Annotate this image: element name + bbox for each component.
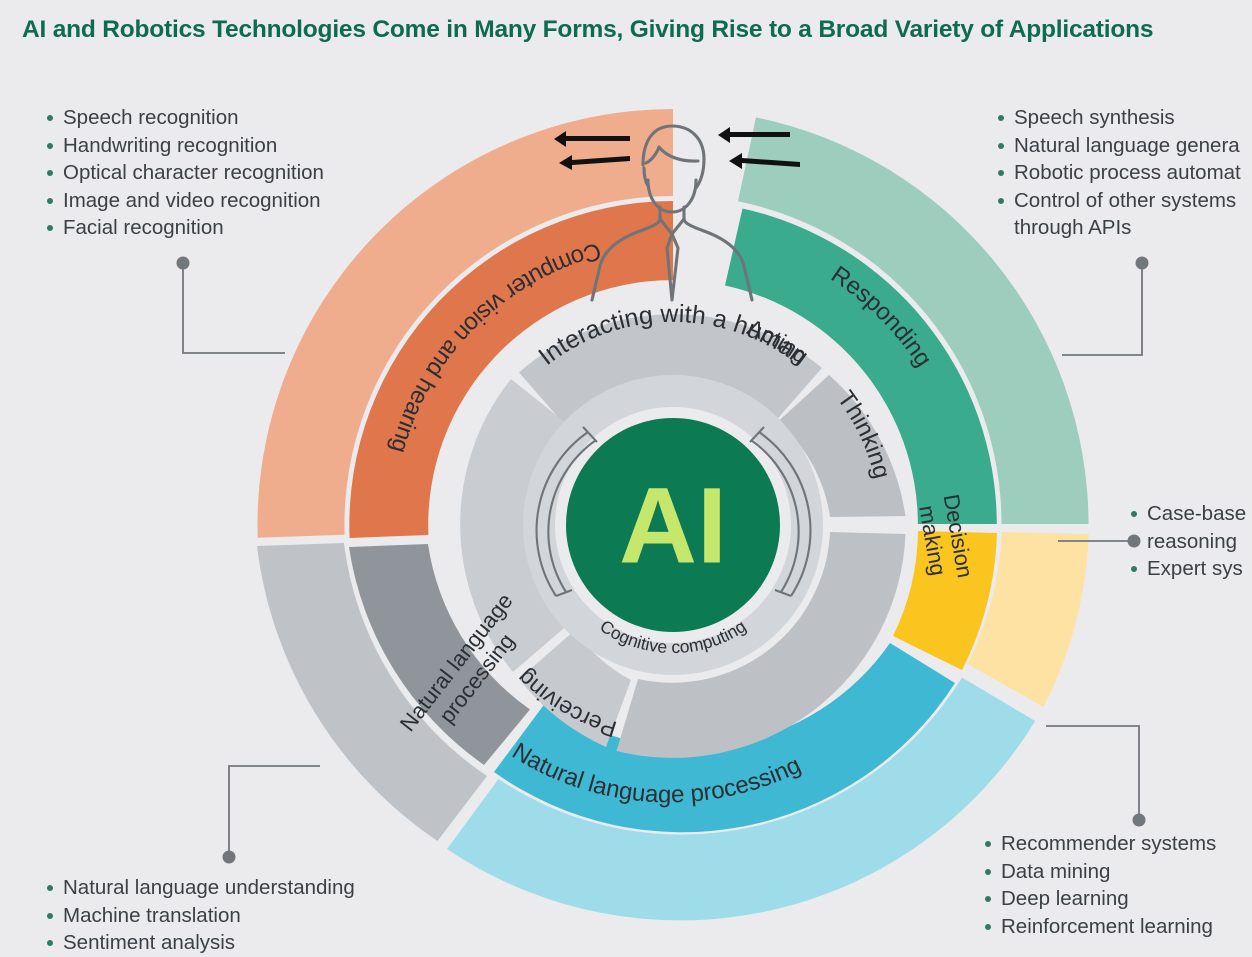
- leader-computer-vision: [183, 265, 285, 353]
- list-item: Natural language understanding: [44, 874, 355, 902]
- list-item: Image and video recognition: [44, 187, 324, 215]
- list-item: Speech synthesis: [995, 104, 1241, 132]
- list-item: Deep learning: [982, 885, 1216, 913]
- list-item: Optical character recognition: [44, 159, 324, 187]
- callout-computer-vision: Speech recognition Handwriting recogniti…: [44, 104, 324, 242]
- leader-nlp: [229, 766, 320, 855]
- list-item: Reinforcement learning: [982, 913, 1216, 941]
- list-item: Natural language genera: [995, 132, 1241, 160]
- list-item: Machine translation: [44, 902, 355, 930]
- callout-responding: Speech synthesis Natural language genera…: [995, 104, 1241, 242]
- list-item: Recommender systems: [982, 830, 1216, 858]
- list-item: Data mining: [982, 858, 1216, 886]
- leader-dot-nlp: [223, 851, 236, 864]
- list-item: Speech recognition: [44, 104, 324, 132]
- list-item-continuation: reasoning: [1128, 528, 1246, 556]
- leader-dot-responding: [1136, 257, 1149, 270]
- leader-dot-machine-learning: [1133, 814, 1146, 827]
- leader-responding: [1062, 265, 1142, 355]
- leader-machine-learning: [1046, 726, 1139, 818]
- list-item: Sentiment analysis: [44, 929, 355, 957]
- list-item-continuation: through APIs: [995, 214, 1241, 242]
- list-item: Facial recognition: [44, 214, 324, 242]
- callout-nlp: Natural language understanding Machine t…: [44, 874, 355, 957]
- callout-machine-learning: Recommender systems Data mining Deep lea…: [982, 830, 1216, 940]
- list-item: Control of other systems: [995, 187, 1241, 215]
- callout-decision-making: Case-base reasoning Expert sys: [1128, 500, 1246, 583]
- list-item: Robotic process automat: [995, 159, 1241, 187]
- leader-dot-computer-vision: [177, 257, 190, 270]
- list-item: Case-base: [1128, 500, 1246, 528]
- ai-core-label: AI: [619, 465, 727, 586]
- list-item: Expert sys: [1128, 555, 1246, 583]
- list-item: Handwriting recognition: [44, 132, 324, 160]
